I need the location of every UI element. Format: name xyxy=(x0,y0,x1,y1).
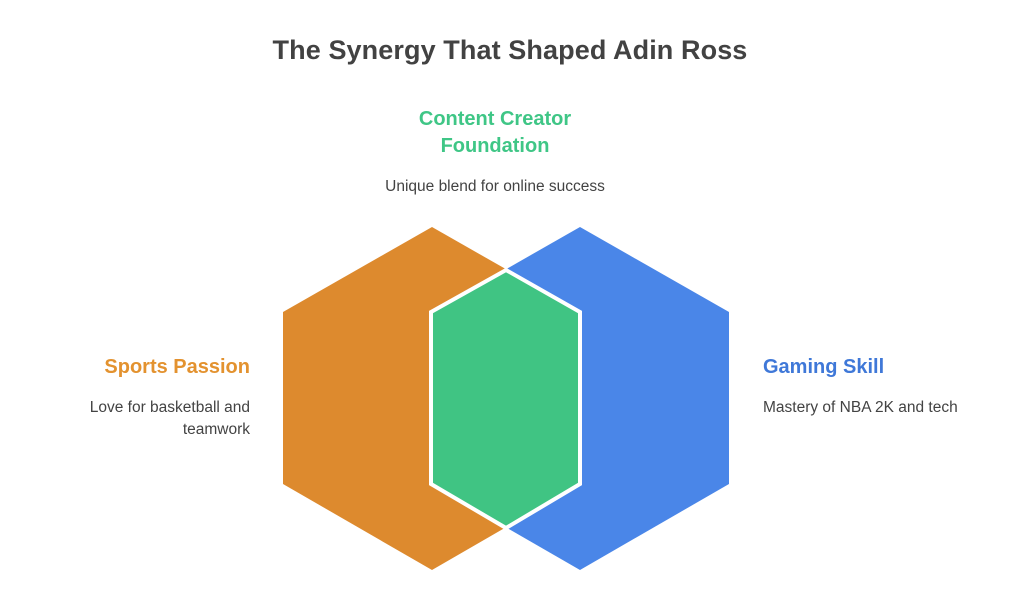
hexagon-center-content-creator-foundation[interactable] xyxy=(431,270,580,528)
infographic-canvas: The Synergy That Shaped Adin Ross Conten… xyxy=(0,0,1020,610)
label-block-content-creator-foundation: Content Creator Foundation Unique blend … xyxy=(370,106,620,198)
label-heading-content-creator-foundation: Content Creator Foundation xyxy=(370,106,620,160)
label-description-gaming-skill: Mastery of NBA 2K and tech xyxy=(763,397,995,419)
venn-diagram-svg xyxy=(0,0,1020,610)
label-description-content-creator-foundation: Unique blend for online success xyxy=(370,176,620,198)
label-heading-sports-passion: Sports Passion xyxy=(24,354,250,381)
label-block-gaming-skill: Gaming Skill Mastery of NBA 2K and tech xyxy=(763,354,995,419)
label-block-sports-passion: Sports Passion Love for basketball and t… xyxy=(24,354,250,442)
venn-diagram xyxy=(0,0,1020,610)
label-heading-gaming-skill: Gaming Skill xyxy=(763,354,995,381)
label-description-sports-passion: Love for basketball and teamwork xyxy=(24,397,250,442)
